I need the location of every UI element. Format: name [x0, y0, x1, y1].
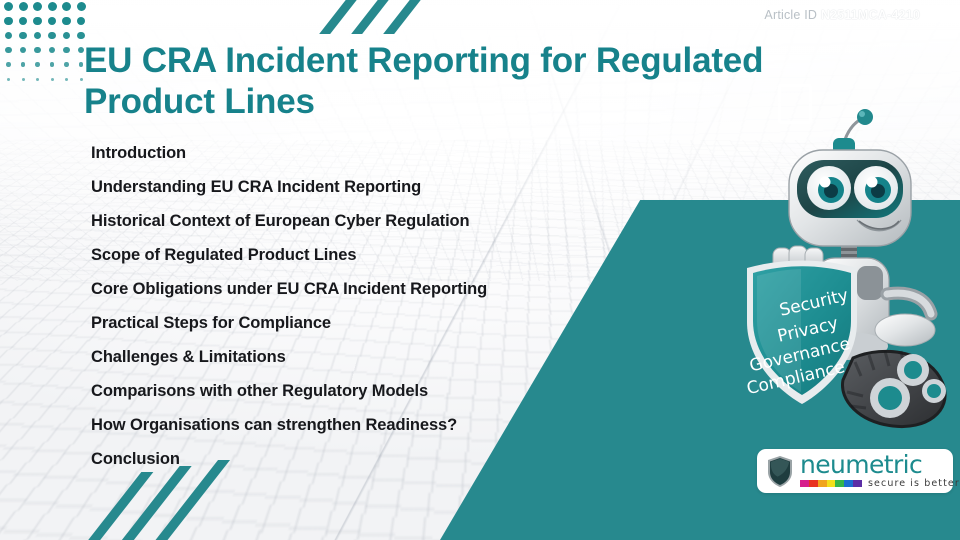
logo-color-bars	[800, 480, 862, 487]
list-item[interactable]: Practical Steps for Compliance	[91, 306, 651, 340]
article-id: Article ID N2511MCA-4210	[764, 8, 920, 22]
list-item[interactable]: Conclusion	[91, 442, 651, 476]
list-item[interactable]: Introduction	[91, 136, 651, 170]
list-item[interactable]: Core Obligations under EU CRA Incident R…	[91, 272, 651, 306]
shield-icon: Security Privacy Governance Compliance	[745, 261, 857, 405]
list-item[interactable]: Scope of Regulated Product Lines	[91, 238, 651, 272]
article-id-label: Article ID	[764, 8, 817, 22]
neumetric-logo[interactable]: neumetric secure is better	[757, 449, 953, 493]
robot-illustration: Security Privacy Governance Compliance	[735, 108, 960, 438]
list-item[interactable]: How Organisations can strengthen Readine…	[91, 408, 651, 442]
article-id-value: N2511MCA-4210	[821, 8, 920, 22]
list-item[interactable]: Understanding EU CRA Incident Reporting	[91, 170, 651, 204]
robot-head	[789, 150, 911, 246]
logo-subline: secure is better	[800, 478, 960, 489]
list-item[interactable]: Challenges & Limitations	[91, 340, 651, 374]
presentation-slide: Article ID N2511MCA-4210 EU CRA Incident…	[0, 0, 960, 540]
logo-wordmark: neumetric	[800, 453, 960, 476]
robot-mascot: Security Privacy Governance Compliance	[735, 108, 960, 438]
logo-tagline: secure is better	[868, 478, 960, 489]
list-item[interactable]: Historical Context of European Cyber Reg…	[91, 204, 651, 238]
logo-shield-icon	[766, 455, 794, 488]
robot-tread-wheel	[842, 351, 946, 427]
list-item[interactable]: Comparisons with other Regulatory Models	[91, 374, 651, 408]
diagonal-stripes-top	[330, 0, 440, 36]
logo-text-block: neumetric secure is better	[800, 453, 960, 489]
agenda-list: Introduction Understanding EU CRA Incide…	[91, 136, 651, 476]
